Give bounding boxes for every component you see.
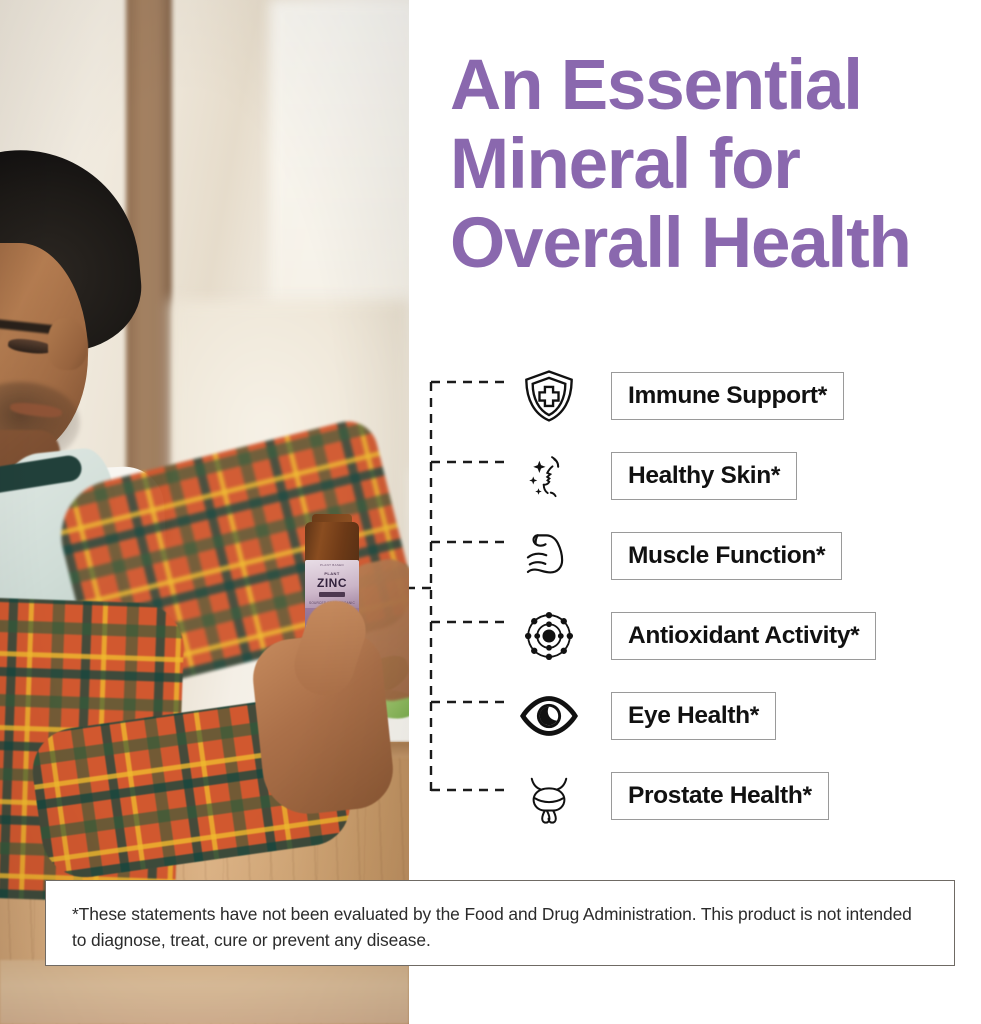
benefit-label: Muscle Function*: [611, 532, 842, 580]
eye-icon: [509, 676, 589, 756]
prostate-icon: [509, 756, 589, 836]
benefit-label: Eye Health*: [611, 692, 776, 740]
product-label-rule: [319, 592, 345, 597]
product-name: ZINC: [305, 576, 359, 590]
page-title: An Essential Mineral for Overall Health: [450, 46, 980, 283]
benefits-list: Immune Support* Healthy Sk: [409, 356, 981, 836]
content-panel: An Essential Mineral for Overall Health: [409, 0, 981, 1024]
headline-line-2: Mineral for: [450, 125, 980, 204]
benefit-label: Antioxidant Activity*: [611, 612, 876, 660]
flexed-bicep-icon: [509, 516, 589, 596]
benefit-row: Antioxidant Activity*: [409, 596, 981, 676]
photo-table-lower: [0, 960, 409, 1024]
lifestyle-photo: PLANT BASED PLANT ZINC SOURCED FROM ORGA…: [0, 0, 409, 1024]
benefit-row: Eye Health*: [409, 676, 981, 756]
fda-disclaimer: *These statements have not been evaluate…: [45, 880, 955, 966]
product-brand-top: PLANT BASED: [305, 563, 359, 567]
headline-line-3: Overall Health: [450, 204, 980, 283]
benefit-label: Prostate Health*: [611, 772, 829, 820]
antioxidant-atom-icon: [509, 596, 589, 676]
face-sparkle-icon: [509, 436, 589, 516]
headline-line-1: An Essential: [450, 46, 980, 125]
benefit-label: Healthy Skin*: [611, 452, 797, 500]
benefit-row: Prostate Health*: [409, 756, 981, 836]
benefit-row: Muscle Function*: [409, 516, 981, 596]
benefit-row: Healthy Skin*: [409, 436, 981, 516]
benefit-row: Immune Support*: [409, 356, 981, 436]
infographic-page: PLANT BASED PLANT ZINC SOURCED FROM ORGA…: [0, 0, 981, 1024]
benefit-label: Immune Support*: [611, 372, 844, 420]
shield-plus-icon: [509, 356, 589, 436]
